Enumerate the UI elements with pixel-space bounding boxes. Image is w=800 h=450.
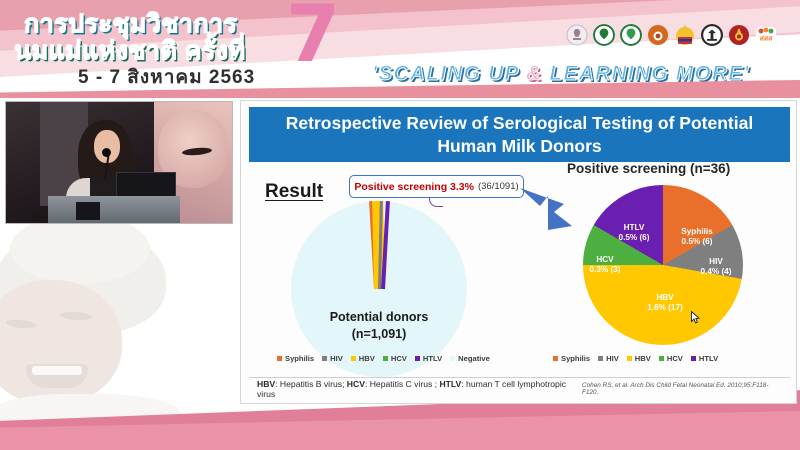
presentation-screenshot: การประชุมวิชาการ นมแม่แห่งชาติ ครั้งที่ … — [0, 0, 800, 450]
footnote-hcv-def: : Hepatitis C virus ; — [365, 379, 440, 389]
baby-watermark-image — [0, 224, 240, 424]
slice-label-hiv: HIV 0.4% (4) — [693, 257, 739, 278]
legend-label-htlv-right: HTLV — [699, 354, 718, 363]
legend-swatch-hbv-right — [627, 356, 632, 361]
slide-title: Retrospective Review of Serological Test… — [249, 107, 790, 162]
slice-label-hbv-value: 1.6% (17) — [637, 303, 693, 313]
slice-label-syphilis-value: 0.5% (6) — [671, 237, 723, 247]
legend-swatch-hiv-right — [598, 356, 603, 361]
podium — [48, 196, 180, 224]
legend-swatch-syphilis-left — [277, 356, 282, 361]
legend-item-htlv-right: HTLV — [691, 354, 718, 363]
legend-item-negative-left: Negative — [450, 354, 490, 363]
slice-label-hbv: HBV 1.6% (17) — [637, 293, 693, 314]
slice-label-hcv: HCV 0.3% (3) — [581, 255, 629, 276]
slice-label-hiv-name: HIV — [693, 257, 739, 267]
logo-black-emblem-icon — [701, 24, 723, 46]
legend-swatch-negative-left — [450, 356, 455, 361]
legend-item-syphilis-left: Syphilis — [277, 354, 314, 363]
positive-screening-title: Positive screening (n=36) — [567, 161, 730, 176]
logo-green-medical-2-icon — [620, 24, 642, 46]
legend-potential-donors: Syphilis HIV HBV HCV HTLV Negative — [277, 354, 490, 363]
chart-positive-screening[interactable]: Positive screening (n=36) Syphilis 0.5% … — [551, 161, 787, 376]
footnote-hcv-key: HCV — [347, 379, 365, 389]
slice-label-hiv-value: 0.4% (4) — [693, 267, 739, 277]
legend-label-htlv-left: HTLV — [423, 354, 442, 363]
positive-screening-callout: Positive screening 3.3% (36/1091) — [349, 175, 524, 198]
logo-green-medical-1-icon — [593, 24, 615, 46]
callout-percent-text: Positive screening 3.3% — [354, 181, 474, 193]
legend-label-hiv-left: HIV — [330, 354, 343, 363]
logo-thai-royal-seal-icon — [566, 24, 588, 46]
footnote-htlv-key: HTLV — [439, 379, 461, 389]
presentation-slide: Retrospective Review of Serological Test… — [240, 100, 797, 404]
logo-red-emblem-icon — [728, 24, 750, 46]
source-citation: Cohen RS, et al. Arch Dis Child Fetal Ne… — [582, 382, 782, 396]
chart-potential-donors[interactable]: Potential donors (n=1,091) — [291, 201, 467, 377]
baby-teeth — [32, 366, 82, 375]
conference-banner: การประชุมวิชาการ นมแม่แห่งชาติ ครั้งที่ … — [0, 0, 800, 98]
legend-item-htlv-left: HTLV — [415, 354, 442, 363]
podium-plaque — [76, 202, 100, 220]
conference-edition-number: 7 — [286, 0, 340, 74]
footnote-hbv-key: HBV — [257, 379, 275, 389]
legend-label-syphilis-right: Syphilis — [561, 354, 590, 363]
slide-footnote: HBV: Hepatitis B virus; HCV: Hepatitis C… — [249, 377, 790, 399]
mouse-cursor-icon — [691, 311, 700, 324]
slice-label-htlv-name: HTLV — [609, 223, 659, 233]
result-heading: Result — [265, 181, 323, 203]
logo-royal-crest-icon — [674, 24, 696, 46]
legend-label-hbv-right: HBV — [635, 354, 651, 363]
speaker-video-feed[interactable] — [5, 101, 233, 224]
legend-swatch-syphilis-right — [553, 356, 558, 361]
legend-item-hcv-right: HCV — [659, 354, 683, 363]
legend-item-hcv-left: HCV — [383, 354, 407, 363]
slice-label-htlv: HTLV 0.5% (6) — [609, 223, 659, 244]
legend-swatch-htlv-left — [415, 356, 420, 361]
slice-label-syphilis-name: Syphilis — [671, 227, 723, 237]
legend-swatch-hcv-right — [659, 356, 664, 361]
logo-thaihealth-sss-icon: สสส — [755, 24, 777, 46]
sponsor-logo-row: สสส — [566, 24, 777, 46]
abbreviation-definitions: HBV: Hepatitis B virus; HCV: Hepatitis C… — [257, 379, 582, 399]
slice-label-hcv-name: HCV — [581, 255, 629, 265]
callout-fraction-text: (36/1091) — [478, 181, 519, 192]
tagline-part-1: 'SCALING UP — [372, 62, 526, 85]
legend-swatch-hiv-left — [322, 356, 327, 361]
legend-swatch-hcv-left — [383, 356, 388, 361]
legend-item-syphilis-right: Syphilis — [553, 354, 590, 363]
legend-label-hbv-left: HBV — [359, 354, 375, 363]
logo-orange-emblem-icon — [647, 24, 669, 46]
legend-item-hiv-right: HIV — [598, 354, 619, 363]
tagline-ampersand: & — [526, 62, 542, 85]
laptop-on-podium — [116, 172, 176, 198]
legend-swatch-htlv-right — [691, 356, 696, 361]
potential-donors-subtitle: (n=1,091) — [330, 326, 429, 343]
legend-label-syphilis-left: Syphilis — [285, 354, 314, 363]
legend-item-hiv-left: HIV — [322, 354, 343, 363]
potential-donors-title: Potential donors — [330, 309, 429, 326]
legend-label-hcv-right: HCV — [667, 354, 683, 363]
legend-positive-screening: Syphilis HIV HBV HCV HTLV — [553, 354, 718, 363]
legend-item-hbv-left: HBV — [351, 354, 375, 363]
legend-item-hbv-right: HBV — [627, 354, 651, 363]
legend-label-hiv-right: HIV — [606, 354, 619, 363]
slice-label-hcv-value: 0.3% (3) — [581, 265, 629, 275]
slice-label-syphilis: Syphilis 0.5% (6) — [671, 227, 723, 248]
legend-label-hcv-left: HCV — [391, 354, 407, 363]
slice-label-htlv-value: 0.5% (6) — [609, 233, 659, 243]
legend-label-negative-left: Negative — [458, 354, 490, 363]
slice-label-hbv-name: HBV — [637, 293, 693, 303]
legend-swatch-hbv-left — [351, 356, 356, 361]
chart-potential-donors-label: Potential donors (n=1,091) — [330, 309, 429, 343]
callout-leader-line — [429, 198, 443, 207]
microphone-head-icon — [102, 148, 111, 157]
conference-date-thai: 5 - 7 สิงหาคม 2563 — [78, 62, 255, 92]
footnote-hbv-def: : Hepatitis B virus; — [275, 379, 347, 389]
svg-text:สสส: สสส — [760, 35, 774, 43]
positive-screening-pie[interactable]: Syphilis 0.5% (6) HIV 0.4% (4) HBV 1.6% … — [583, 185, 743, 345]
